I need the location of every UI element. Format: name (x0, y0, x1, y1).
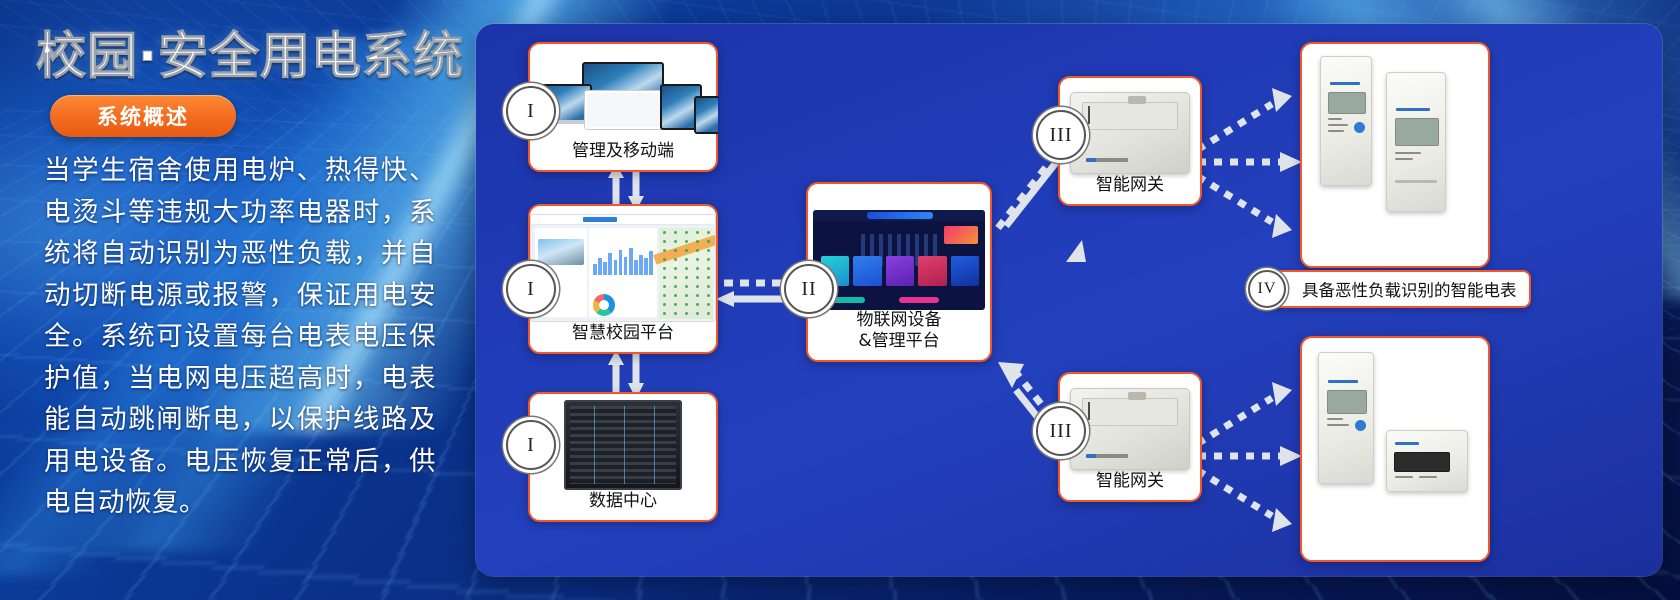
dashboard-map-screenshot-icon (530, 214, 716, 322)
node-iot-platform[interactable]: 物联网设备 &管理平台 (806, 182, 992, 362)
node-label-line2: &管理平台 (857, 331, 942, 352)
marker-iot-platform: II (784, 264, 834, 314)
node-label: 智能网关 (1096, 470, 1164, 500)
three-phase-din-meter-icon (1386, 72, 1446, 212)
meter-group-top[interactable] (1300, 42, 1490, 268)
section-badge-label: 系统概述 (97, 101, 189, 131)
section-badge: 系统概述 (50, 95, 236, 137)
meter-group-label: 具备恶性负载识别的智能电表 (1302, 277, 1517, 301)
marker-admin-mobile: I (506, 86, 556, 136)
node-label: 管理及移动端 (572, 140, 674, 170)
overview-paragraph: 当学生宿舍使用电炉、热得快、电烫斗等违规大功率电器时，系统将自动识别为恶性负载，… (44, 150, 436, 524)
meter-group-label-pill: 具备恶性负载识别的智能电表 (1266, 270, 1531, 308)
node-label: 数据中心 (589, 490, 657, 520)
node-label: 智能网关 (1096, 174, 1164, 204)
node-label: 物联网设备 &管理平台 (857, 310, 942, 360)
iot-dashboard-screen-icon (813, 210, 985, 310)
meter-group-bottom[interactable] (1300, 336, 1490, 562)
marker-data-center: I (506, 420, 556, 470)
architecture-diagram-panel: 管理及移动端 I 智慧校园平台 I 数据中心 I (476, 24, 1662, 576)
node-label-line1: 物联网设备 (857, 310, 942, 331)
din-rail-lcd-meter-icon (1318, 352, 1374, 484)
marker-campus-platform: I (506, 264, 556, 314)
node-data-center[interactable]: 数据中心 (528, 392, 718, 522)
smart-gateway-device-icon (1070, 388, 1190, 470)
multi-device-screens-icon (528, 62, 718, 140)
din-rail-meter-icon (1386, 430, 1468, 492)
marker-meter-group: IV (1248, 270, 1286, 308)
single-phase-din-meter-icon (1320, 56, 1372, 186)
page-title: 校园·安全用电系统 (36, 16, 464, 88)
marker-gateway-bottom: III (1036, 406, 1086, 456)
node-admin-mobile[interactable]: 管理及移动端 (528, 42, 718, 172)
node-campus-platform[interactable]: 智慧校园平台 (528, 204, 718, 354)
node-label: 智慧校园平台 (572, 322, 674, 352)
smart-gateway-device-icon (1070, 92, 1190, 174)
server-rack-icon (564, 400, 682, 490)
intro-column: 校园·安全用电系统 系统概述 当学生宿舍使用电炉、热得快、电烫斗等违规大功率电器… (0, 0, 470, 600)
marker-gateway-top: III (1036, 110, 1086, 160)
